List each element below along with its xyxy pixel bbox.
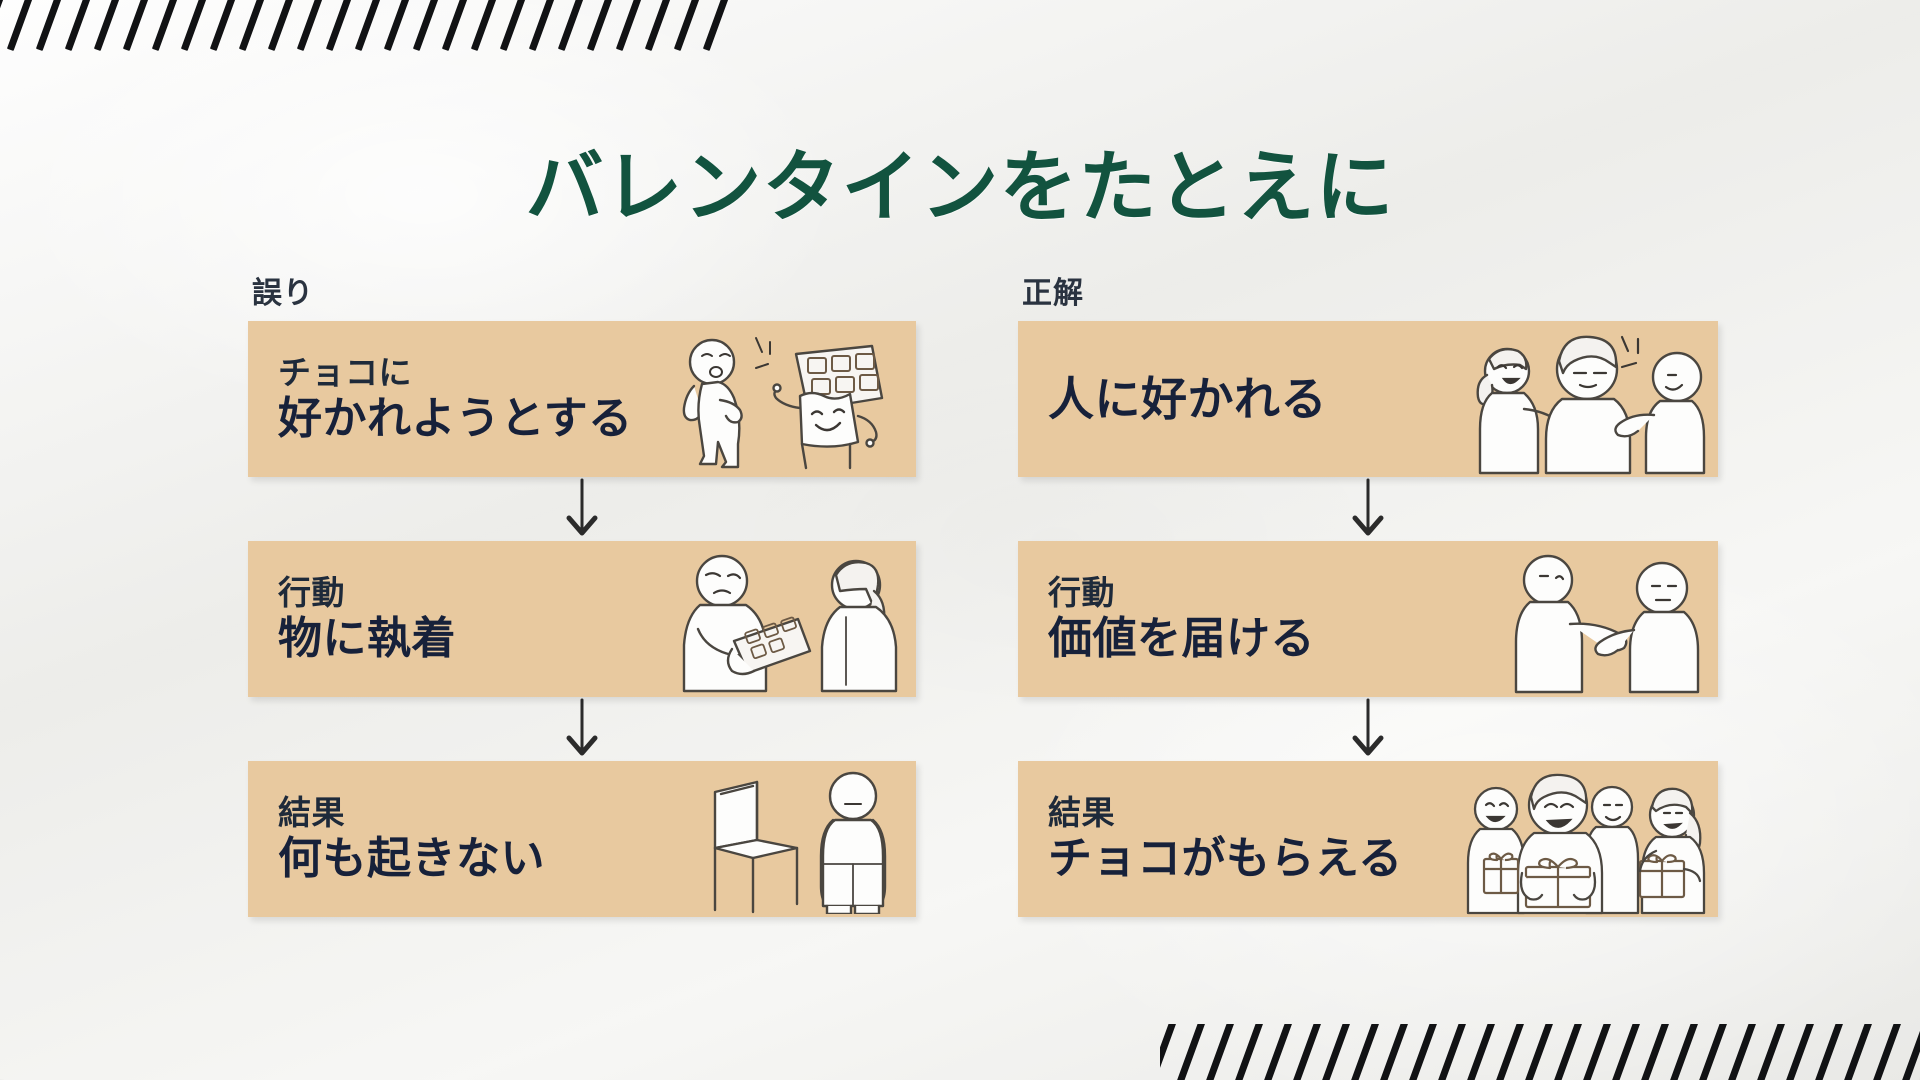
illustration-group-giving-gifts: [1462, 761, 1712, 917]
down-arrow-icon: [562, 478, 602, 540]
arrow-connector: [1018, 697, 1718, 761]
step-text: 結果 何も起きない: [278, 794, 545, 885]
step-text: 人に好かれる: [1048, 372, 1327, 426]
arrow-connector: [1018, 477, 1718, 541]
step-box-right-1[interactable]: 人に好かれる: [1018, 321, 1718, 477]
page-title: バレンタインをたとえに: [0, 125, 1920, 237]
step-text: チョコに 好かれようとする: [278, 354, 633, 445]
illustration-sad-person-holding-chocolate: [670, 541, 910, 697]
step-kicker: 結果: [278, 794, 545, 833]
step-main: 人に好かれる: [1048, 372, 1327, 426]
column-right: 正解 人に好かれる: [1018, 268, 1718, 917]
step-text: 結果 チョコがもらえる: [1048, 794, 1403, 885]
step-text: 行動 物に執着: [278, 574, 456, 665]
arrow-connector: [248, 477, 916, 541]
step-main: チョコがもらえる: [1048, 833, 1403, 885]
step-text: 行動 価値を届ける: [1048, 574, 1315, 665]
step-box-wrong-1[interactable]: チョコに 好かれようとする: [248, 321, 916, 477]
step-box-right-3[interactable]: 結果 チョコがもらえる: [1018, 761, 1718, 917]
decorative-stripes-bottom-right: [1160, 1024, 1920, 1080]
down-arrow-icon: [1348, 698, 1388, 760]
illustration-person-handing-item-to-person: [1502, 541, 1712, 697]
column-label-right: 正解: [1018, 268, 1718, 312]
step-main: 価値を届ける: [1048, 613, 1315, 665]
step-main: 物に執着: [278, 613, 456, 665]
step-kicker: 行動: [278, 574, 456, 613]
step-kicker: 結果: [1048, 794, 1403, 833]
decorative-stripes-top-left: [0, 0, 750, 54]
down-arrow-icon: [562, 698, 602, 760]
illustration-person-pleading-to-chocolate-bar: [660, 321, 910, 477]
step-box-wrong-2[interactable]: 行動 物に執着: [248, 541, 916, 697]
column-label-wrong: 誤り: [248, 268, 948, 312]
step-main: 好かれようとする: [278, 393, 633, 445]
column-wrong: 誤り チョコに 好かれようとする: [248, 268, 948, 917]
step-box-right-2[interactable]: 行動 価値を届ける: [1018, 541, 1718, 697]
step-main: 何も起きない: [278, 833, 545, 885]
illustration-empty-chair-and-lone-person: [695, 761, 910, 917]
step-kicker: チョコに: [278, 354, 633, 393]
step-box-wrong-3[interactable]: 結果 何も起きない: [248, 761, 916, 917]
step-kicker: 行動: [1048, 574, 1315, 613]
arrow-connector: [248, 697, 916, 761]
down-arrow-icon: [1348, 478, 1388, 540]
illustration-three-people-liking-person: [1462, 321, 1712, 477]
